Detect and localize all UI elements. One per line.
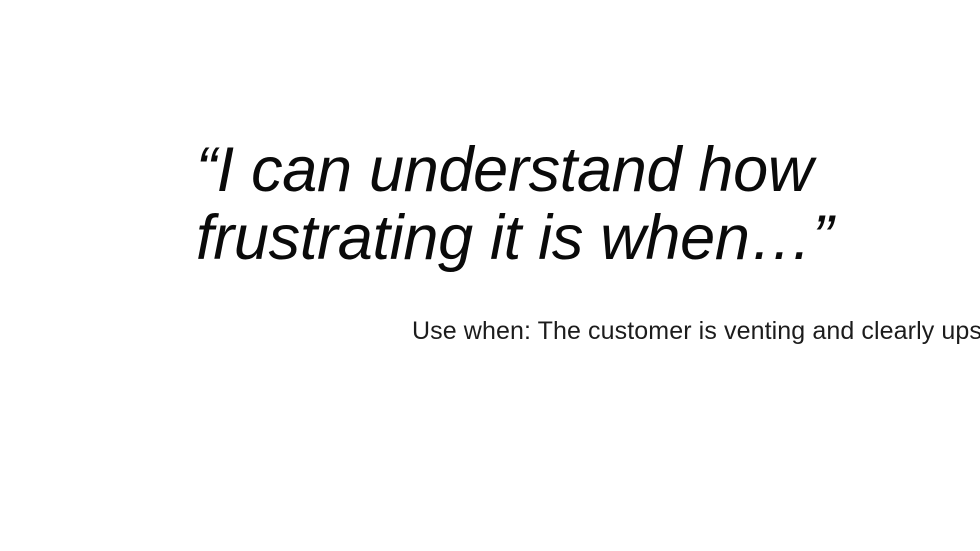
slide-canvas: “I can understand how frustrating it is … (0, 0, 980, 551)
quote-line-1: “I can understand how (196, 136, 836, 204)
use-when-caption: Use when: The customer is venting and cl… (412, 316, 980, 346)
quote-block: “I can understand how frustrating it is … (196, 136, 836, 272)
quote-line-2: frustrating it is when…” (196, 204, 836, 272)
